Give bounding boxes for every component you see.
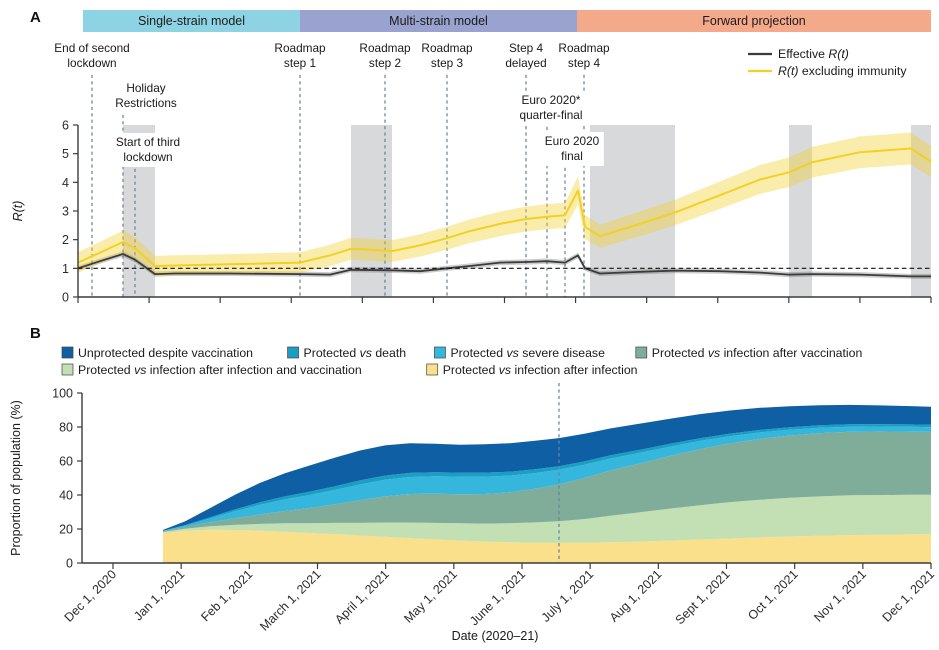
event-label: step 4 [568, 56, 601, 70]
x-axis-title: Date (2020–21) [452, 629, 539, 643]
panel-a-letter: A [30, 9, 41, 26]
panelA-y-tick-label: 6 [62, 119, 69, 133]
panel-b-letter: B [30, 325, 41, 342]
event-label: step 3 [431, 56, 464, 70]
panelB-x-tick-label: April 1, 2021 [332, 567, 392, 627]
event-label: Roadmap [421, 41, 473, 55]
panelB-x-tick-label: Dec 1, 2020 [62, 567, 120, 625]
phase-band-label: Multi-strain model [389, 14, 488, 28]
panelB-x-tick-label: May 1, 2021 [401, 567, 460, 626]
event-label: step 1 [284, 56, 316, 70]
legend-swatch [434, 347, 445, 358]
event-label: Roadmap [359, 41, 411, 55]
panelB-x-tick-label: June 1, 2021 [467, 567, 528, 628]
panelB-x-tick-label: Nov 1, 2021 [811, 567, 869, 625]
event-label: Roadmap [558, 41, 610, 55]
figure-root: Single-strain modelMulti-strain modelFor… [0, 0, 939, 650]
legend-label: Protected vs severe disease [450, 346, 605, 360]
event-label: Holiday [126, 81, 165, 95]
event-label: step 2 [369, 56, 401, 70]
panelB-y-tick-label: 100 [52, 387, 73, 401]
legend-swatch [62, 347, 73, 358]
panelB-plot [163, 383, 931, 563]
panelB-y-tick-label: 80 [59, 421, 73, 435]
panelA-y-tick-label: 3 [62, 205, 69, 219]
panelA-y-axis-label: R(t) [11, 201, 25, 222]
legend-label: Effective R(t) [778, 47, 849, 61]
legend-label: Protected vs infection after infection a… [78, 363, 362, 377]
panelA-y-tick-label: 1 [62, 262, 69, 276]
panelB-y-tick-label: 40 [59, 489, 73, 503]
panelB-x-tick-label: Sept 1, 2021 [673, 567, 733, 627]
panelA-y-tick-label: 4 [62, 176, 69, 190]
panelB-y-tick-label: 0 [66, 557, 73, 571]
phase-band-label: Forward projection [702, 14, 806, 28]
event-label: Step 4 [509, 41, 544, 55]
phase-band-label: Single-strain model [138, 14, 245, 28]
event-label: End of second [54, 41, 129, 55]
panelA-y-tick-label: 5 [62, 147, 69, 161]
panelA-y-tick-label: 2 [62, 233, 69, 247]
panelB-x-tick-label: Jan 1, 2021 [131, 567, 187, 623]
event-label: final [561, 149, 583, 163]
legend-swatch [288, 347, 299, 358]
panelB-y-tick-label: 20 [59, 523, 73, 537]
panelA-legend: Effective R(t)R(t) excluding immunity [748, 47, 907, 78]
panelB-x-tick-label: July 1, 2021 [539, 567, 597, 625]
event-label: lockdown [67, 56, 116, 70]
event-label: Start of third [116, 135, 180, 149]
legend-swatch [636, 347, 647, 358]
legend-swatch [62, 364, 73, 375]
event-label: lockdown [123, 150, 172, 164]
panelA-phase-bands: Single-strain modelMulti-strain modelFor… [83, 10, 931, 32]
panelB-x-tick-label: March 1, 2021 [257, 567, 323, 633]
panelB-x-tick-label: Aug 1, 2021 [607, 567, 665, 625]
panelB-y-tick-label: 60 [59, 455, 73, 469]
legend-label: Protected vs infection after infection [443, 363, 638, 377]
legend-label: Protected vs infection after vaccination [652, 346, 863, 360]
event-label: quarter-final [520, 108, 583, 122]
event-label: Euro 2020 [545, 134, 600, 148]
legend-label: R(t) excluding immunity [778, 64, 907, 78]
legend-label: Protected vs death [304, 346, 407, 360]
panelB-x-tick-label: Feb 1, 2021 [198, 567, 255, 624]
panelB-x-tick-label: Dec 1, 2021 [880, 567, 938, 625]
event-label: Euro 2020* [521, 93, 580, 107]
panelA-y-tick-label: 0 [62, 291, 69, 305]
panelB-legend: Unprotected despite vaccinationProtected… [62, 346, 862, 377]
event-label: delayed [505, 56, 546, 70]
event-label: Roadmap [274, 41, 326, 55]
event-label: Restrictions [115, 96, 177, 110]
panelB-y-axis-label: Proportion of population (%) [9, 400, 23, 556]
panelB-x-tick-label: Oct 1, 2021 [745, 567, 801, 623]
legend-swatch [427, 364, 438, 375]
legend-label: Unprotected despite vaccination [78, 346, 253, 360]
figure-svg: Single-strain modelMulti-strain modelFor… [0, 0, 939, 650]
